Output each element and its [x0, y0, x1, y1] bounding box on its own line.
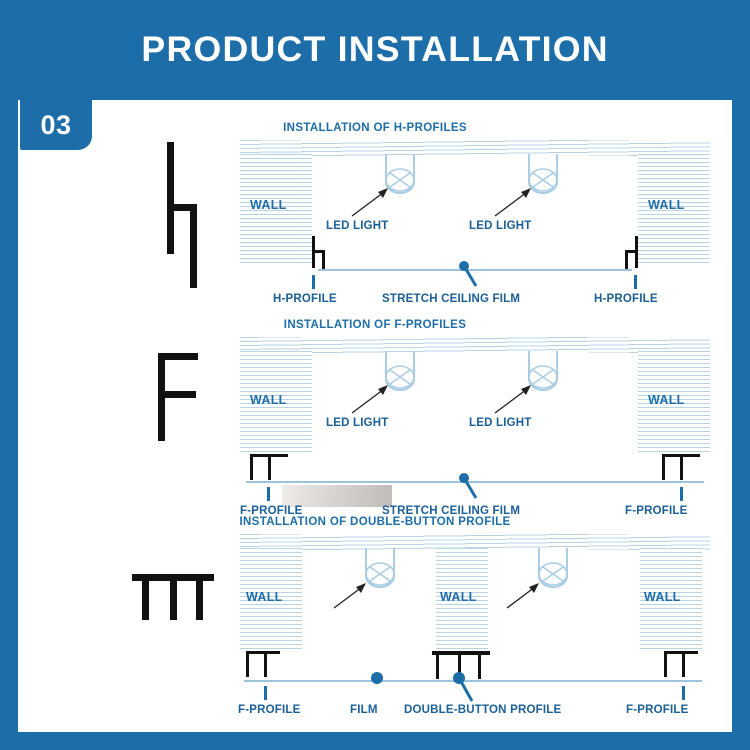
film-callout-leader: [458, 260, 484, 294]
diagram-f-profiles: WALL WALL LED LIGHT: [240, 335, 710, 510]
header-bar: PRODUCT INSTALLATION: [0, 0, 750, 100]
section-double-button-profile: INSTALLATION OF DOUBLE-BUTTON PROFILE WA…: [18, 512, 732, 712]
diagram-h-profiles: WALL WALL LED LIGHT: [240, 138, 710, 313]
tick-left: [312, 275, 315, 289]
label-f-profile-right: F-PROFILE: [626, 704, 689, 716]
section-title-double-button-profile: INSTALLATION OF DOUBLE-BUTTON PROFILE: [18, 516, 732, 528]
section-title-h-profiles: INSTALLATION OF H-PROFILES: [18, 122, 732, 134]
wall-label-left: WALL: [246, 590, 283, 604]
label-stretch-ceiling-film: STRETCH CEILING FILM: [382, 293, 520, 305]
led-pointer-arrow-1: [332, 582, 376, 612]
tick-right: [680, 487, 683, 501]
tick-left: [264, 686, 267, 700]
page-title: PRODUCT INSTALLATION: [141, 30, 608, 70]
diagram-double-button-profile: WALL WALL WALL: [240, 532, 710, 712]
led-light-label-1: LED LIGHT: [326, 220, 389, 232]
led-pointer-arrow-2: [505, 582, 549, 612]
step-number-label: 03: [40, 110, 71, 141]
wall-label-left: WALL: [250, 198, 287, 212]
section-title-f-profiles: INSTALLATION OF F-PROFILES: [18, 319, 732, 331]
wall-label-left: WALL: [250, 393, 287, 407]
film-callout-leader: [458, 472, 484, 506]
led-light-label-1: LED LIGHT: [326, 417, 389, 429]
led-light-label-2: LED LIGHT: [469, 220, 532, 232]
section-h-profiles: INSTALLATION OF H-PROFILES WALL WALL: [18, 118, 732, 313]
label-h-profile-right: H-PROFILE: [594, 293, 658, 305]
label-film: FILM: [350, 704, 378, 716]
led-pointer-arrow-2: [493, 188, 541, 218]
led-pointer-arrow-1: [350, 385, 398, 415]
redacted-watermark: [282, 485, 392, 507]
wall-label-right: WALL: [644, 590, 681, 604]
poster-root: PRODUCT INSTALLATION 03 INSTALLATION OF …: [0, 0, 750, 750]
label-double-button-profile: DOUBLE-BUTTON PROFILE: [404, 704, 561, 716]
section-f-profiles: INSTALLATION OF F-PROFILES WALL WALL: [18, 315, 732, 510]
led-light-label-2: LED LIGHT: [469, 417, 532, 429]
label-f-profile-left: F-PROFILE: [238, 704, 301, 716]
wall-label-right: WALL: [648, 393, 685, 407]
label-h-profile-left: H-PROFILE: [273, 293, 337, 305]
tick-right: [634, 275, 637, 289]
step-number-badge: 03: [20, 100, 92, 150]
film-callout-dot: [370, 671, 386, 687]
wall-label-right: WALL: [648, 198, 685, 212]
tick-right: [682, 686, 685, 700]
led-pointer-arrow-2: [493, 385, 541, 415]
wall-label-middle: WALL: [440, 590, 477, 604]
led-pointer-arrow-1: [350, 188, 398, 218]
tick-left: [267, 487, 270, 501]
double-button-callout-leader: [452, 671, 480, 707]
